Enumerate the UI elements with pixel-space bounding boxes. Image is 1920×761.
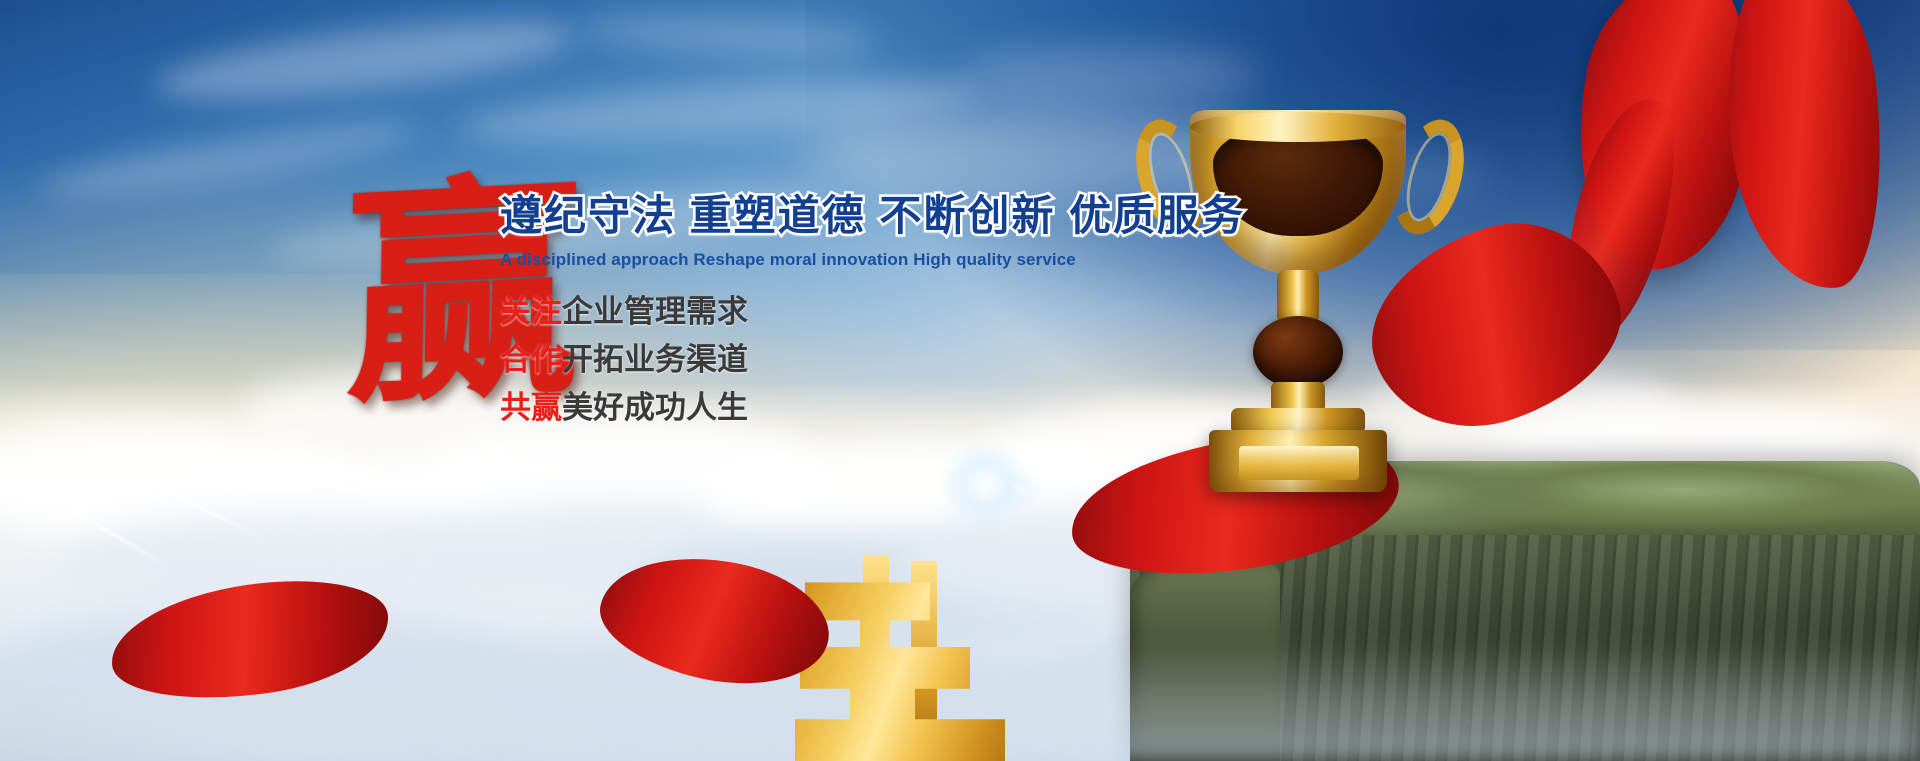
cliff-mist [1100,641,1920,761]
slogan-line-1-highlight: 关注 [500,294,562,329]
slogan-line-3-highlight: 共赢 [500,390,562,425]
slogan-line-3-rest: 美好成功人生 [562,390,748,425]
slogan-line-3: 共赢美好成功人生 [500,384,1160,432]
lens-flare-small [1000,470,1040,510]
slogan-line-1-rest: 企业管理需求 [562,294,748,329]
slogan-line-2-highlight: 合作 [500,342,562,377]
slogan-line-2-rest: 开拓业务渠道 [562,342,748,377]
banner-stage: 赢 遵纪守法 重塑道德 不断创新 优质服务 A disciplined appr… [0,0,1920,761]
subtitle-english: A disciplined approach Reshape moral inn… [500,250,1160,270]
slogan-text-block: 遵纪守法 重塑道德 不断创新 优质服务 A disciplined approa… [500,192,1160,432]
headline-slogan: 遵纪守法 重塑道德 不断创新 优质服务 [500,192,1160,239]
slogan-bullet-list: 关注企业管理需求 合作开拓业务渠道 共赢美好成功人生 [500,288,1160,432]
slogan-line-2: 合作开拓业务渠道 [500,336,1160,384]
gold-trophy [1135,110,1465,500]
slogan-line-1: 关注企业管理需求 [500,288,1160,336]
